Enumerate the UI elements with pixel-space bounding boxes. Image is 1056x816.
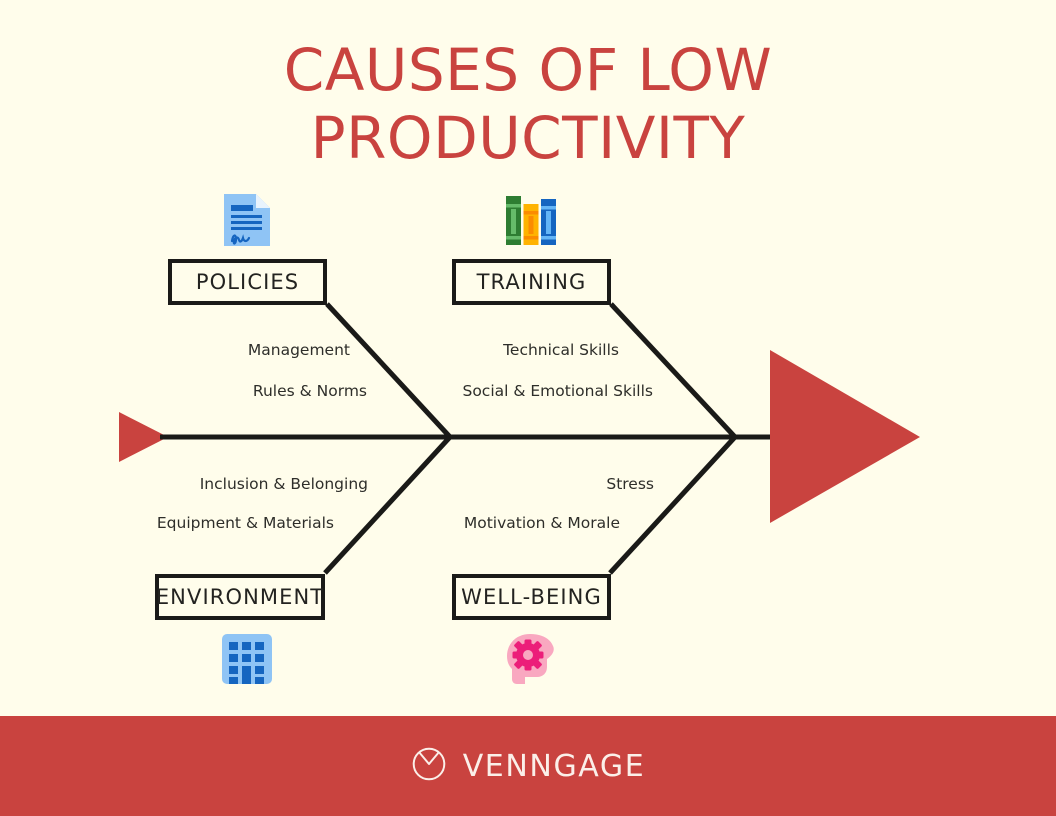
category-label-policies: POLICIES: [196, 270, 299, 294]
category-label-training: TRAINING: [477, 270, 587, 294]
cause-training-2: Social & Emotional Skills: [420, 382, 653, 400]
cause-environment-1: Inclusion & Belonging: [150, 475, 368, 493]
rib-environment: [325, 437, 450, 573]
rib-training: [611, 304, 735, 437]
brand-name: VENNGAGE: [463, 749, 646, 784]
footer-bar: VENNGAGE: [0, 716, 1056, 816]
head-arrow-icon: [770, 350, 920, 523]
brand-lockup: VENNGAGE: [411, 746, 646, 787]
category-label-environment: ENVIRONMENT: [156, 585, 324, 609]
category-box-wellbeing[interactable]: WELL-BEING: [452, 574, 611, 620]
cause-wellbeing-2: Motivation & Morale: [420, 514, 620, 532]
cause-policies-1: Management: [143, 341, 350, 359]
cause-wellbeing-1: Stress: [480, 475, 654, 493]
cause-policies-2: Rules & Norms: [160, 382, 367, 400]
tail-arrow-icon: [119, 412, 168, 462]
books-icon: [504, 193, 558, 247]
office-building-icon: [220, 632, 274, 686]
venngage-circle-logo: [411, 746, 447, 787]
infographic-canvas: CAUSES OF LOW PRODUCTIVITY POLICIES TRAI…: [0, 0, 1056, 816]
category-box-policies[interactable]: POLICIES: [168, 259, 327, 305]
rib-wellbeing: [610, 437, 735, 573]
category-box-training[interactable]: TRAINING: [452, 259, 611, 305]
cause-training-1: Technical Skills: [420, 341, 619, 359]
cause-environment-2: Equipment & Materials: [110, 514, 334, 532]
head-gear-icon: [503, 632, 561, 686]
category-label-wellbeing: WELL-BEING: [461, 585, 602, 609]
page-title: CAUSES OF LOW PRODUCTIVITY: [0, 36, 1056, 172]
category-box-environment[interactable]: ENVIRONMENT: [155, 574, 325, 620]
rib-policies: [327, 304, 450, 437]
document-signature-icon: [220, 193, 274, 247]
